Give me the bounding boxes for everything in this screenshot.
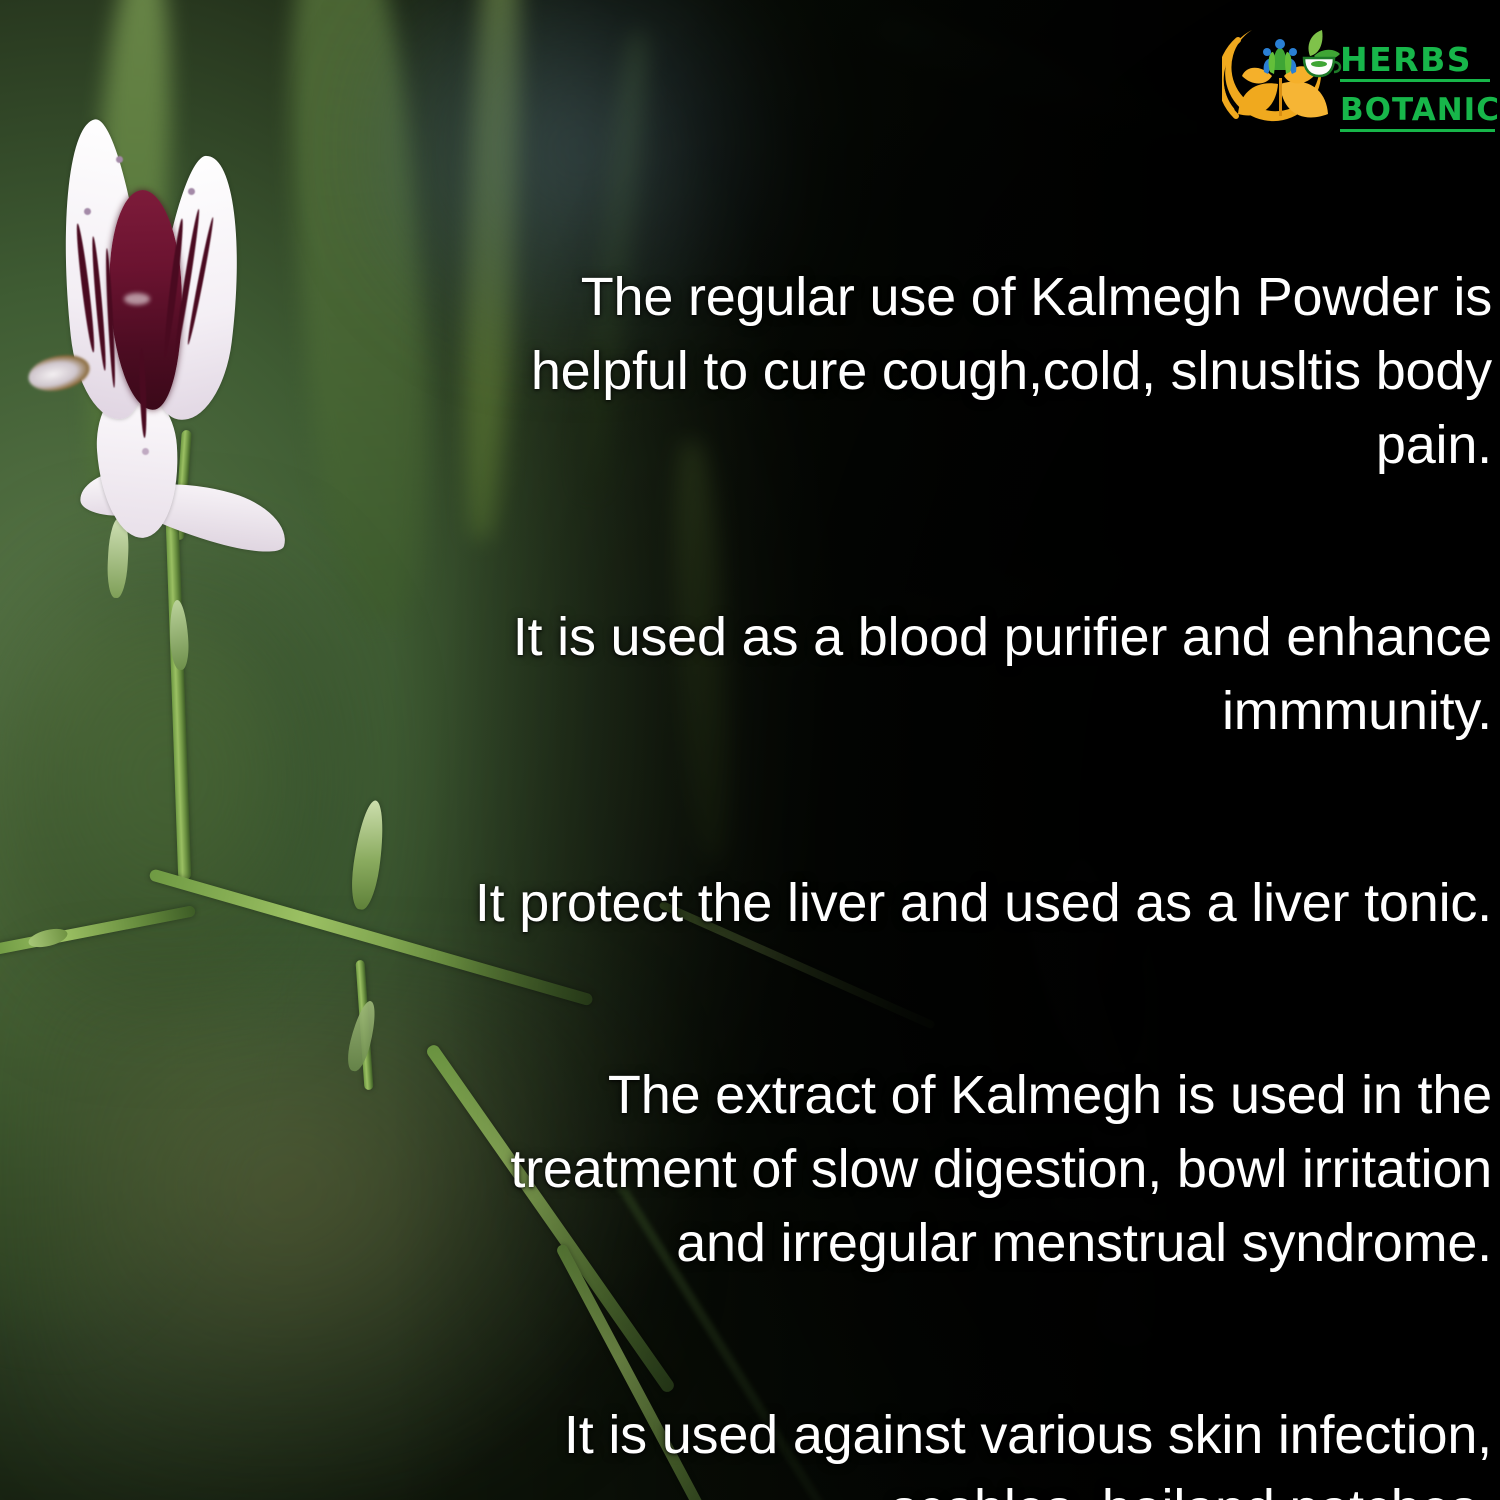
benefit-paragraph: The regular use of Kalmegh Powder is hel… [470, 260, 1492, 482]
brand-name-line1: HERBS [1340, 42, 1495, 78]
benefit-paragraph: It is used against various skin infectio… [470, 1398, 1492, 1500]
benefit-paragraph: It is used as a blood purifier and enhan… [470, 600, 1492, 748]
benefit-paragraph: The extract of Kalmegh is used in the tr… [470, 1058, 1492, 1280]
benefit-paragraph: It protect the liver and used as a liver… [470, 866, 1492, 940]
brand-wordmark: HERBS BOTANICA [1340, 42, 1495, 138]
herbs-botanica-emblem-icon [1222, 18, 1342, 143]
kalmegh-flower-photo [20, 118, 320, 558]
benefits-copy: The regular use of Kalmegh Powder is hel… [470, 186, 1492, 1500]
product-infographic: HERBS BOTANICA The regular use of Kalmeg… [0, 0, 1500, 1500]
brand-name-line2: BOTANICA [1340, 92, 1495, 128]
brand-logo[interactable]: HERBS BOTANICA [1222, 18, 1492, 154]
wordmark-underline [1340, 79, 1490, 82]
wordmark-underline [1340, 129, 1495, 132]
